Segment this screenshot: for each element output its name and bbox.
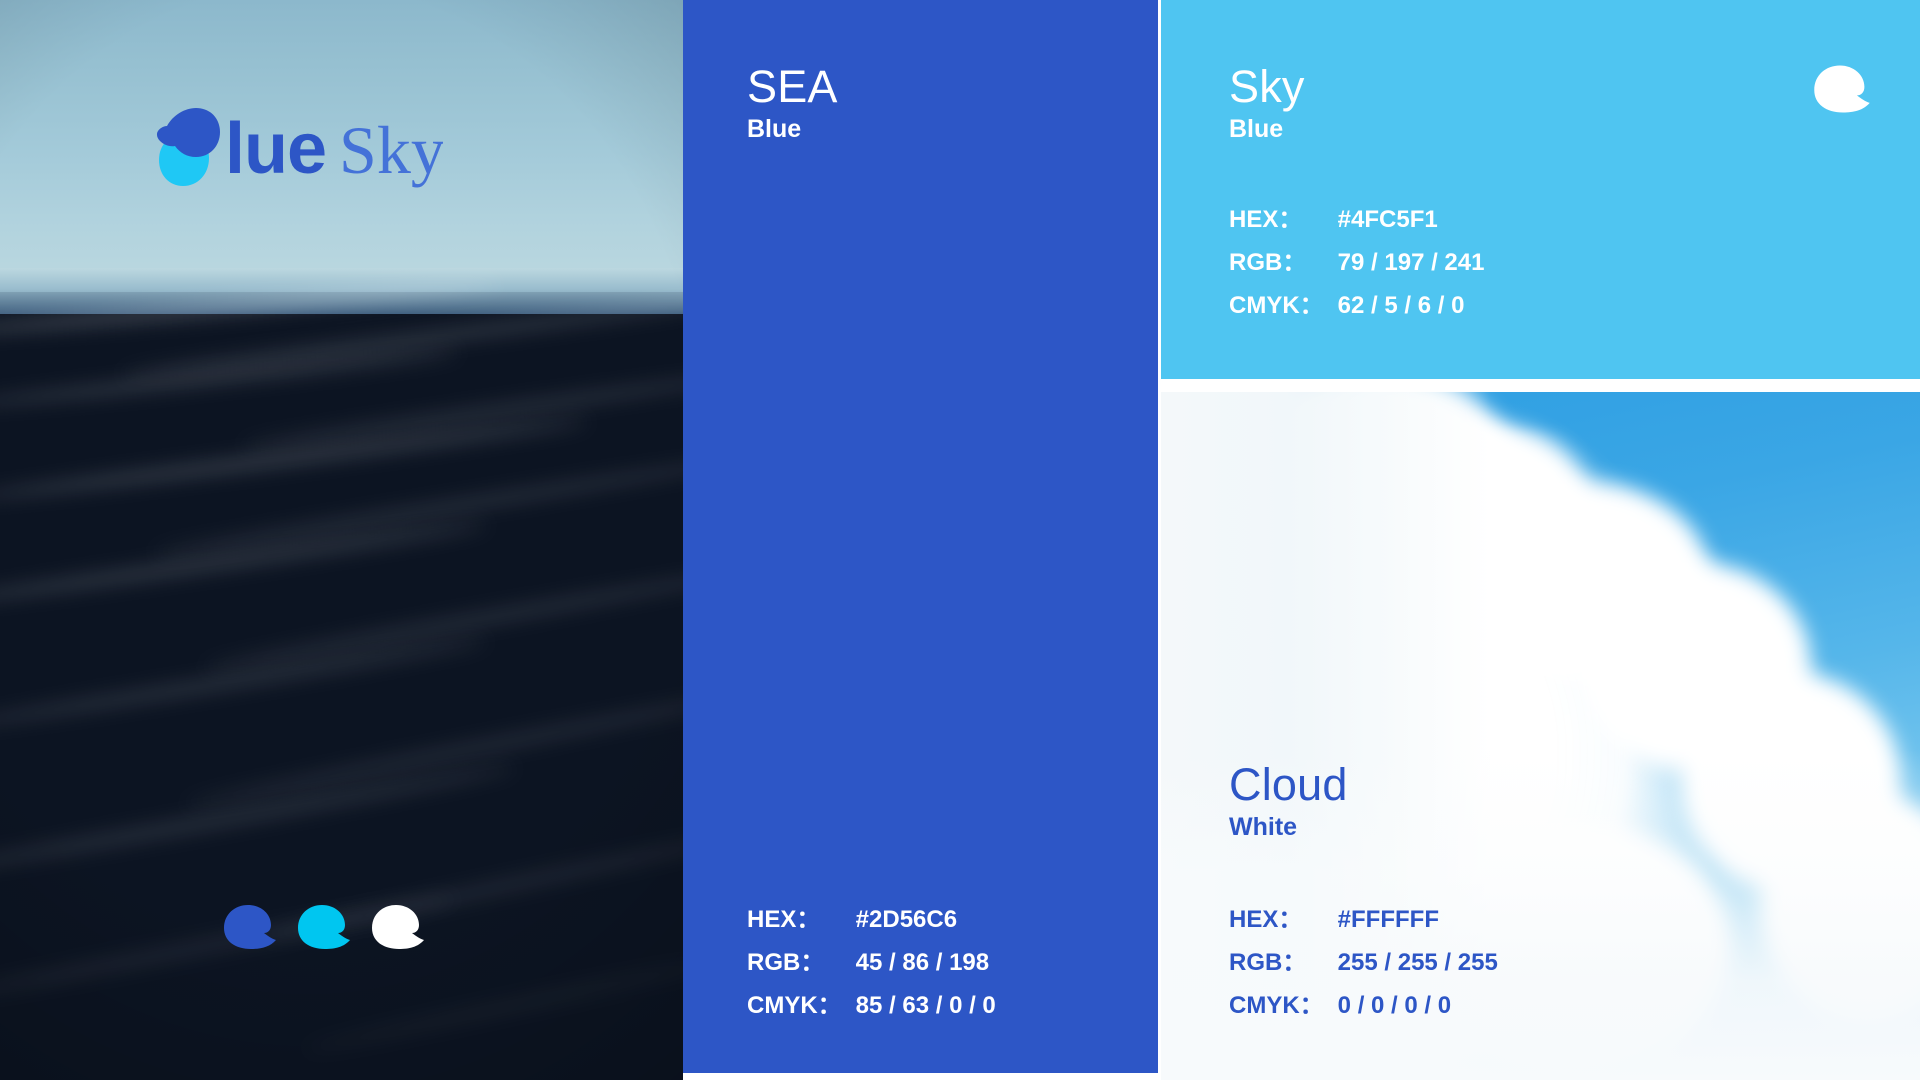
logo-word-primary: lue [225,109,326,189]
spec-label-cmyk: CMYK： [1229,984,1338,1027]
spec-row-cmyk: CMYK： 62 / 5 / 6 / 0 [1229,284,1484,327]
spec-row-hex: HEX： #2D56C6 [747,898,996,941]
spec-label-cmyk: CMYK： [1229,284,1338,327]
spec-label-hex: HEX： [1229,898,1338,941]
cloud-swatch-heading: Cloud White [1229,760,1348,842]
spec-row-rgb: RGB： 255 / 255 / 255 [1229,941,1498,984]
sky-panel-mark [1810,62,1874,116]
spec-value-cmyk: 0 / 0 / 0 / 0 [1338,984,1498,1027]
spec-value-cmyk: 85 / 63 / 0 / 0 [856,984,996,1027]
spec-row-rgb: RGB： 45 / 86 / 198 [747,941,996,984]
spec-label-rgb: RGB： [1229,941,1338,984]
sea-blue-mark-icon [220,902,280,952]
spec-value-hex: #4FC5F1 [1338,198,1485,241]
spec-label-hex: HEX： [747,898,856,941]
spec-row-hex: HEX： #FFFFFF [1229,898,1498,941]
spec-label-rgb: RGB： [1229,241,1338,284]
spec-value-rgb: 79 / 197 / 241 [1338,241,1485,284]
sea-swatch-specs: HEX： #2D56C6 RGB： 45 / 86 / 198 CMYK： 85… [747,898,996,1027]
cloud-swatch-subtitle: White [1229,812,1348,842]
spec-value-hex: #2D56C6 [856,898,996,941]
sea-swatch-title: SEA [747,62,838,112]
ocean-photo-panel: lue Sky [0,0,683,1080]
cloud-swatch-specs: HEX： #FFFFFF RGB： 255 / 255 / 255 CMYK： … [1229,898,1498,1027]
spec-value-cmyk: 62 / 5 / 6 / 0 [1338,284,1485,327]
sky-swatch-heading: Sky Blue [1229,62,1305,144]
spec-value-rgb: 255 / 255 / 255 [1338,941,1498,984]
sky-swatch-title: Sky [1229,62,1305,112]
cloud-white-mark-icon [1810,62,1874,116]
spec-row-rgb: RGB： 79 / 197 / 241 [1229,241,1484,284]
spec-value-hex: #FFFFFF [1338,898,1498,941]
spec-row-cmyk: CMYK： 0 / 0 / 0 / 0 [1229,984,1498,1027]
spec-value-rgb: 45 / 86 / 198 [856,941,996,984]
spec-row-cmyk: CMYK： 85 / 63 / 0 / 0 [747,984,996,1027]
logo-word-secondary: Sky [339,112,443,188]
sea-swatch-subtitle: Blue [747,114,838,144]
bluesky-logo-lockup: lue Sky [143,100,443,192]
spec-label-rgb: RGB： [747,941,856,984]
spec-row-hex: HEX： #4FC5F1 [1229,198,1484,241]
sky-swatch-specs: HEX： #4FC5F1 RGB： 79 / 197 / 241 CMYK： 6… [1229,198,1484,327]
spec-label-cmyk: CMYK： [747,984,856,1027]
cloud-white-mark-icon [368,902,428,952]
sky-swatch-subtitle: Blue [1229,114,1305,144]
spec-label-hex: HEX： [1229,198,1338,241]
brand-style-guide-board: lue Sky SEA Blue HEX： #2D56C6 [0,0,1920,1080]
cloud-swatch-title: Cloud [1229,760,1348,810]
sky-blue-mark-icon [294,902,354,952]
brand-mark-row [220,902,428,952]
sea-swatch-heading: SEA Blue [747,62,838,144]
